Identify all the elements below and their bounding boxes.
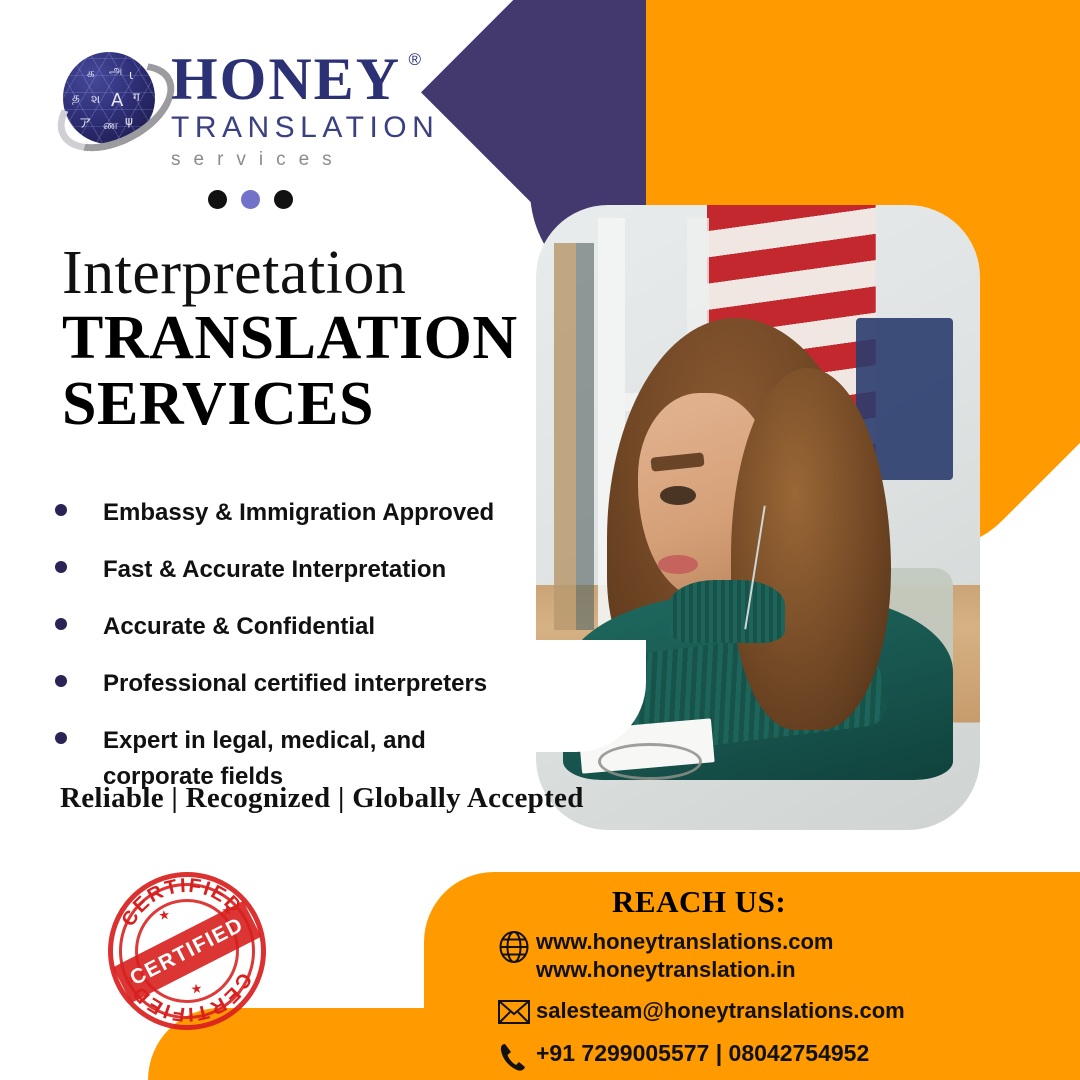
bullet-dot-icon: [55, 732, 67, 744]
contact-list: www.honeytranslations.com www.honeytrans…: [492, 928, 1072, 1080]
stamp-star-icon: ★: [158, 907, 172, 924]
photo-glasses: [598, 743, 702, 780]
logo-name: HONEY®: [171, 50, 401, 109]
globe-icon: [492, 928, 536, 964]
contact-heading: REACH US:: [612, 884, 786, 920]
feature-list: Embassy & Immigration Approved Fast & Ac…: [55, 495, 525, 816]
photo-person-collar: [669, 580, 784, 643]
list-item: Professional certified interpreters: [55, 666, 525, 702]
bullet-dot-icon: [55, 561, 67, 573]
photo-person-eye: [660, 486, 696, 505]
bullet-dot-icon: [55, 618, 67, 630]
brand-logo: க அ ι த શ A ग ア ண ψ HONEY® TRANSLATION s…: [55, 46, 439, 171]
list-item-label: Professional certified interpreters: [103, 666, 487, 702]
headline-script: Interpretation: [62, 238, 406, 309]
photo-person-lip: [658, 555, 698, 574]
contact-website-2[interactable]: www.honeytranslation.in: [536, 956, 833, 984]
headline-line-1: TRANSLATION: [62, 305, 518, 371]
carousel-dots: [208, 190, 293, 209]
page-title: TRANSLATION SERVICES: [62, 305, 518, 438]
carousel-dot-3: [274, 190, 293, 209]
carousel-dot-2-active: [241, 190, 260, 209]
list-item: Fast & Accurate Interpretation: [55, 552, 525, 588]
contact-row-email[interactable]: salesteam@honeytranslations.com: [492, 997, 1072, 1025]
list-item: Accurate & Confidential: [55, 609, 525, 645]
envelope-icon: [492, 997, 536, 1025]
globe-icon: க அ ι த શ A ग ア ண ψ: [55, 46, 163, 154]
registered-trademark-icon: ®: [409, 52, 424, 69]
logo-name-text: HONEY: [171, 46, 401, 112]
phone-icon: [492, 1039, 536, 1073]
certified-stamp-icon: CERTIFIED CERTIFIED ★ ★ ★ ★ CERTIFIED: [99, 863, 275, 1039]
contact-website-1[interactable]: www.honeytranslations.com: [536, 928, 833, 956]
contact-row-phone[interactable]: +91 7299005577 | 08042754952: [492, 1039, 1072, 1073]
poster-canvas: க அ ι த શ A ग ア ண ψ HONEY® TRANSLATION s…: [0, 0, 1080, 1080]
list-item-label: Fast & Accurate Interpretation: [103, 552, 446, 588]
bullet-dot-icon: [55, 504, 67, 516]
stamp-star-icon: ★: [190, 980, 204, 997]
contact-phone[interactable]: +91 7299005577 | 08042754952: [536, 1039, 869, 1068]
contact-email[interactable]: salesteam@honeytranslations.com: [536, 997, 905, 1025]
logo-subtitle: TRANSLATION: [171, 111, 439, 145]
tagline: Reliable | Recognized | Globally Accepte…: [60, 782, 584, 815]
list-item: Embassy & Immigration Approved: [55, 495, 525, 531]
logo-tagline: services: [171, 149, 439, 171]
contact-row-website[interactable]: www.honeytranslations.com www.honeytrans…: [492, 928, 1072, 983]
headline-line-2: SERVICES: [62, 371, 518, 437]
carousel-dot-1: [208, 190, 227, 209]
list-item-label: Embassy & Immigration Approved: [103, 495, 494, 531]
logo-wordmark: HONEY® TRANSLATION services: [171, 46, 439, 171]
contact-website-group: www.honeytranslations.com www.honeytrans…: [536, 928, 833, 983]
photo-shelf-detail: [576, 243, 594, 631]
photo-shelf-detail: [554, 243, 576, 631]
list-item-label: Accurate & Confidential: [103, 609, 375, 645]
bullet-dot-icon: [55, 675, 67, 687]
